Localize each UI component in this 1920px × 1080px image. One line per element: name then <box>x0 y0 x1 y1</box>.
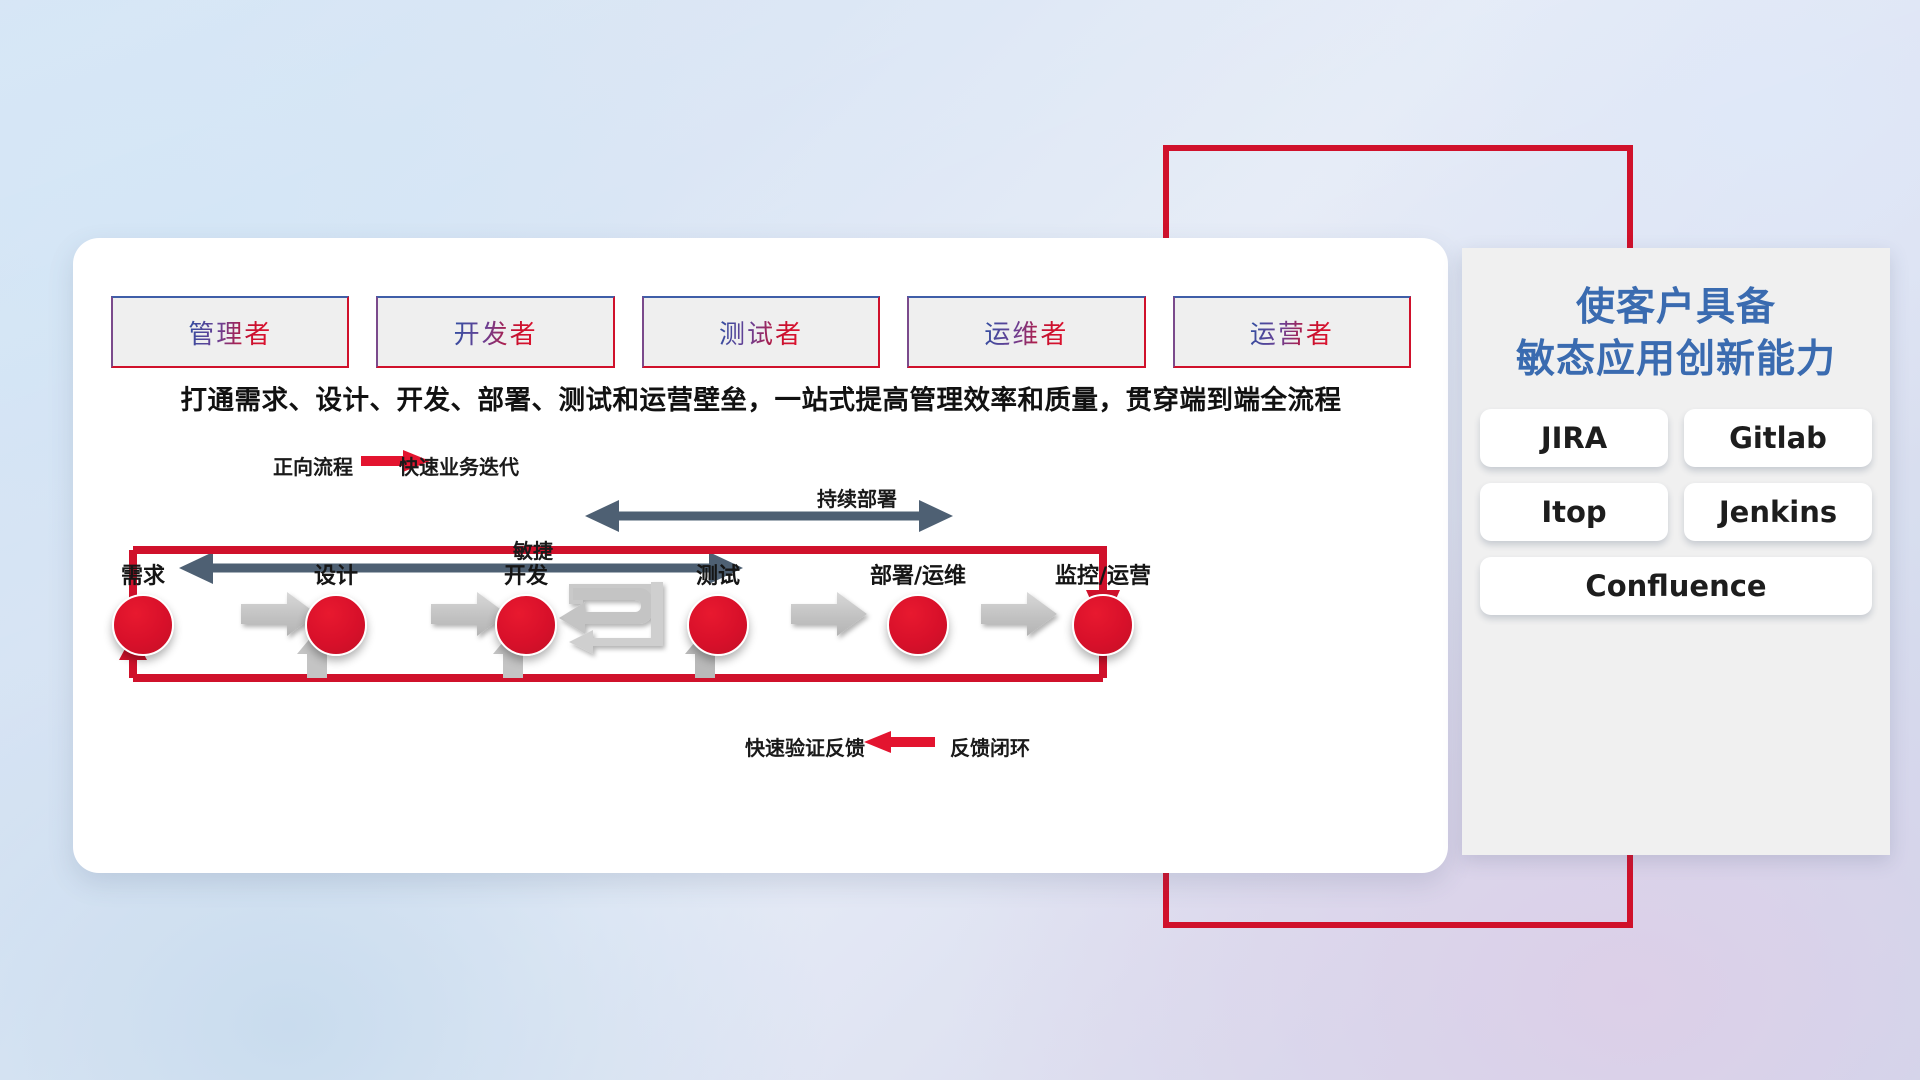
tool-chip-gitlab[interactable]: Gitlab <box>1684 409 1872 467</box>
stage-design[interactable]: 设计 <box>276 558 396 656</box>
stage-monitor-operations[interactable]: 监控/运营 <box>1043 558 1163 656</box>
stage-development[interactable]: 开发 <box>466 558 586 656</box>
continuous-deployment-label: 持续部署 <box>647 483 1067 512</box>
feedback-loop-arrow-icon <box>864 731 935 753</box>
stage-dot-icon <box>305 594 367 656</box>
tools-panel-title: 使客户具备 敏态应用创新能力 <box>1462 282 1890 387</box>
stage-dot-icon <box>887 594 949 656</box>
role-box-tester[interactable]: 测试者 <box>642 296 880 368</box>
tool-chip-itop[interactable]: Itop <box>1480 483 1668 541</box>
role-label: 开发者 <box>454 314 538 351</box>
stage-dot-icon <box>112 594 174 656</box>
stage-label: 测试 <box>658 558 778 590</box>
stage-label: 设计 <box>276 558 396 590</box>
tool-chip-jira[interactable]: JIRA <box>1480 409 1668 467</box>
forward-result-label: 快速业务迭代 <box>399 451 519 480</box>
stage-label: 监控/运营 <box>1043 558 1163 590</box>
tool-chip-jenkins[interactable]: Jenkins <box>1684 483 1872 541</box>
tools-title-line1: 使客户具备 <box>1462 282 1890 334</box>
tool-chip-confluence[interactable]: Confluence <box>1480 557 1872 615</box>
stage-requirements[interactable]: 需求 <box>83 558 203 656</box>
role-label: 测试者 <box>719 314 803 351</box>
feedback-loop-label: 反馈闭环 <box>950 732 1030 761</box>
stage-label: 开发 <box>466 558 586 590</box>
role-label: 运营者 <box>1250 314 1334 351</box>
stage-label: 需求 <box>83 558 203 590</box>
main-diagram-card: 管理者 开发者 测试者 运维者 运营者 打通需求、设计、开发、部署、测试和运营壁… <box>73 238 1448 873</box>
role-box-operations[interactable]: 运营者 <box>1173 296 1411 368</box>
stage-dot-icon <box>495 594 557 656</box>
role-box-manager[interactable]: 管理者 <box>111 296 349 368</box>
stage-testing[interactable]: 测试 <box>658 558 778 656</box>
forward-flow-label: 正向流程 <box>273 451 353 480</box>
tools-title-line2: 敏态应用创新能力 <box>1462 334 1890 386</box>
stage-dot-icon <box>687 594 749 656</box>
description-text: 打通需求、设计、开发、部署、测试和运营壁垒，一站式提高管理效率和质量，贯穿端到端… <box>111 378 1411 417</box>
stage-label: 部署/运维 <box>858 558 978 590</box>
stage-dot-icon <box>1072 594 1134 656</box>
role-box-ops[interactable]: 运维者 <box>907 296 1145 368</box>
role-box-developer[interactable]: 开发者 <box>376 296 614 368</box>
role-label: 运维者 <box>984 314 1068 351</box>
stage-deploy-ops[interactable]: 部署/运维 <box>858 558 978 656</box>
tools-panel: 使客户具备 敏态应用创新能力 JIRA Gitlab Itop Jenkins … <box>1462 248 1890 855</box>
fast-validation-label: 快速验证反馈 <box>745 732 865 761</box>
role-label: 管理者 <box>188 314 272 351</box>
tools-grid: JIRA Gitlab Itop Jenkins Confluence <box>1480 409 1872 615</box>
role-boxes-row: 管理者 开发者 测试者 运维者 运营者 <box>111 296 1411 368</box>
